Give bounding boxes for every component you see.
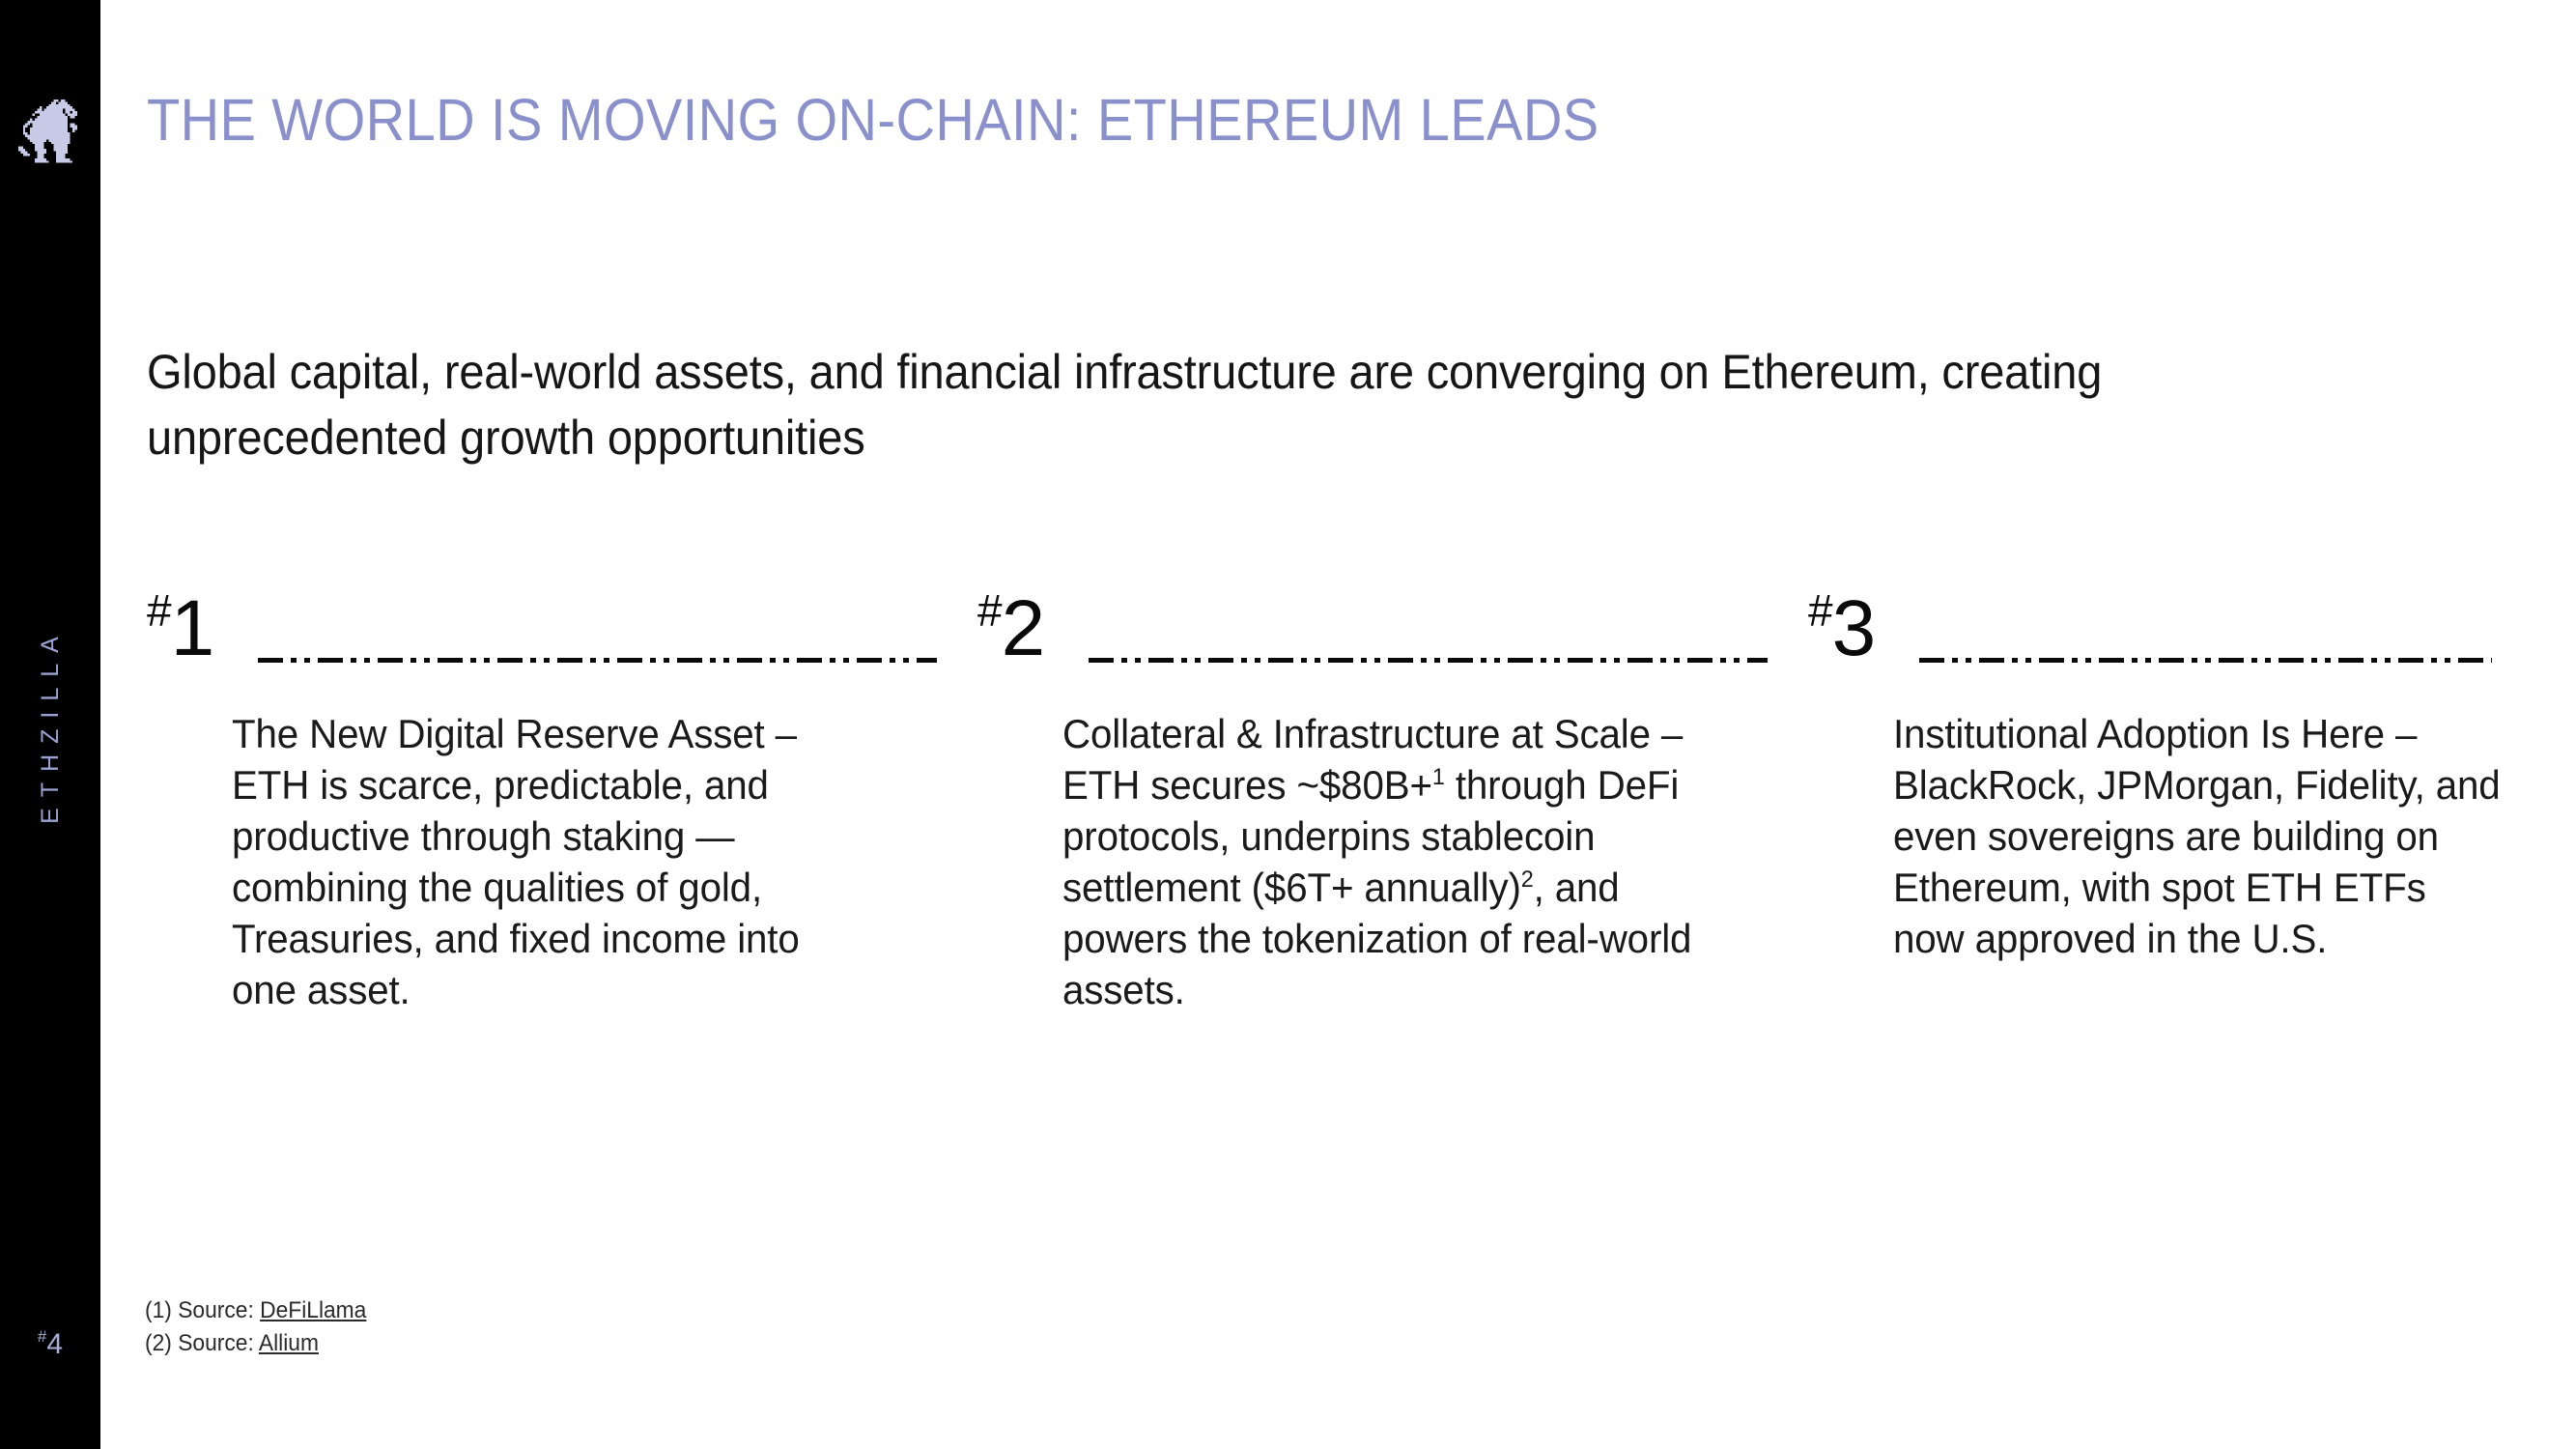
footnote-2-label: (2) Source: (145, 1330, 259, 1356)
dash-rule-2 (1089, 657, 1768, 663)
point-body-1: The New Digital Reserve Asset – ETH is s… (232, 709, 871, 1015)
brand-wordmark: ETHZILLA (0, 541, 100, 908)
page-title: THE WORLD IS MOVING ON-CHAIN: ETHEREUM L… (147, 89, 1599, 151)
point-marker-value-1: 1 (171, 584, 214, 672)
point-header-1: #1 (147, 589, 977, 696)
point-marker-hash-2: # (977, 585, 1002, 636)
point-marker-value-2: 2 (1002, 584, 1045, 672)
point-column-3: #3 Institutional Adoption Is Here – Blac… (1808, 589, 2533, 1015)
point-marker-1: #1 (147, 589, 213, 668)
footnote-1-link[interactable]: DeFiLlama (260, 1297, 366, 1323)
godzilla-pixel-logo-icon (14, 93, 89, 172)
dash-rule-1 (258, 657, 937, 663)
page-number-value: 4 (46, 1328, 63, 1360)
left-rail: ETHZILLA #4 (0, 0, 100, 1449)
footnote-1-label: (1) Source: (145, 1297, 260, 1323)
point-header-3: #3 (1808, 589, 2533, 696)
footnote-1: (1) Source: DeFiLlama (145, 1294, 366, 1327)
brand-wordmark-text: ETHZILLA (37, 626, 65, 824)
point-body-2: Collateral & Infrastructure at Scale – E… (1062, 709, 1702, 1015)
point-body-3: Institutional Adoption Is Here – BlackRo… (1893, 709, 2507, 965)
page-number: #4 (0, 1328, 100, 1359)
footnote-2-link[interactable]: Allium (259, 1330, 319, 1356)
point-header-2: #2 (977, 589, 1808, 696)
point-marker-2: #2 (977, 589, 1044, 668)
footnote-2: (2) Source: Allium (145, 1327, 366, 1360)
point-column-1: #1 The New Digital Reserve Asset – ETH i… (147, 589, 977, 1015)
page-number-hash: # (38, 1327, 46, 1346)
footnote-marker: 2 (1521, 867, 1534, 893)
slide-root: ETHZILLA #4 THE WORLD IS MOVING ON-CHAIN… (0, 0, 2576, 1449)
point-marker-hash-3: # (1808, 585, 1832, 636)
dash-rule-3 (1919, 657, 2492, 663)
footnote-marker: 1 (1432, 764, 1445, 790)
page-subtitle: Global capital, real-world assets, and f… (147, 340, 2235, 470)
point-column-2: #2 Collateral & Infrastructure at Scale … (977, 589, 1808, 1015)
point-marker-hash-1: # (147, 585, 171, 636)
points-row: #1 The New Digital Reserve Asset – ETH i… (147, 589, 2533, 1015)
point-marker-value-3: 3 (1832, 584, 1876, 672)
point-marker-3: #3 (1808, 589, 1875, 668)
footnotes: (1) Source: DeFiLlama (2) Source: Allium (145, 1294, 366, 1360)
